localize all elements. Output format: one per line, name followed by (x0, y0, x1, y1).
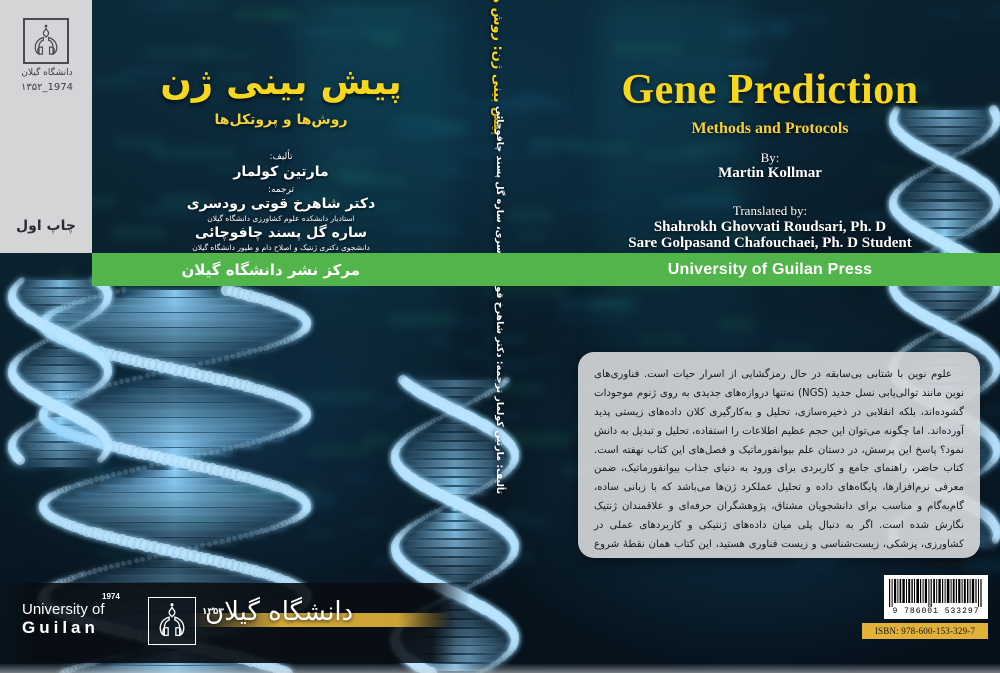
barcode: 9 786001 533297 (884, 575, 988, 619)
flap-years: ۱۳۵۲_1974 (10, 82, 84, 93)
translator-1-affiliation-fa: استادیار دانشکده علوم کشاورزی دانشگاه گی… (92, 214, 470, 223)
translator-1-name-en: Shahrokh Ghovvati Roudsari, Ph. D (540, 219, 1000, 236)
spine-panel: پیش بینی ژن: روش ها و پروتکل ها تألیف: م… (470, 0, 540, 673)
barcode-digits: 9 786001 533297 (888, 607, 984, 617)
back-cover-blurb-text: علوم نوین با شتابی بی‌سابقه در حال رمزگش… (594, 366, 964, 574)
university-of-guilan-seal-icon (23, 18, 69, 64)
university-name-en-line2: Guilan (22, 618, 142, 638)
back-cover-panel: پیش بینی ژن روش‌ها و پروتکل‌ها تألیف: ما… (92, 0, 470, 673)
by-label: By: (540, 150, 1000, 166)
author-name-en: Martin Kollmar (540, 165, 1000, 182)
book-title-en: Gene Prediction (540, 66, 1000, 114)
translator-2-name-fa: ساره گل پسند چافوچائی (92, 225, 470, 241)
isbn-text: ISBN: 978-600-153-329-7 (875, 626, 975, 636)
university-year-en: 1974 (102, 592, 120, 601)
publisher-band-spine (470, 253, 540, 286)
barcode-bars-icon (888, 579, 984, 607)
translator-label-fa: ترجمه: (92, 185, 470, 195)
book-subtitle-en: Methods and Protocols (540, 120, 1000, 138)
author-label-fa: تألیف: (92, 152, 470, 162)
translated-by-label: Translated by: (540, 203, 1000, 219)
university-name-en: University of Guilan (22, 601, 142, 638)
book-subtitle-fa: روش‌ها و پروتکل‌ها (92, 112, 470, 128)
publisher-name-en: University of Guilan Press (668, 261, 872, 279)
page-edge (0, 664, 1000, 673)
university-name-en-line1: University of (22, 601, 142, 618)
publisher-name-fa: مرکز نشر دانشگاه گیلان (181, 261, 470, 279)
publisher-band-front: University of Guilan Press (540, 253, 1000, 286)
book-title-fa: پیش بینی ژن (92, 60, 470, 103)
book-cover: دانشگاه گیلان ۱۳۵۲_1974 چاپ اول مرکز نشر… (0, 0, 1000, 673)
back-flap: دانشگاه گیلان ۱۳۵۲_1974 چاپ اول (0, 0, 92, 253)
isbn-band: ISBN: 978-600-153-329-7 (862, 623, 988, 639)
author-name-fa: مارتین کولمار (92, 164, 470, 180)
flap-university-name: دانشگاه گیلان (18, 68, 76, 78)
translator-1-name-fa: دکتر شاهرخ قوتی رودسری (92, 196, 470, 212)
edition-label: چاپ اول (0, 218, 92, 234)
university-branding-band: 1974 University of Guilan ۱۳۵۳ دانشگاه گ… (0, 583, 470, 663)
university-name-fa: دانشگاه گیلان (205, 597, 390, 627)
publisher-band-back: مرکز نشر دانشگاه گیلان (92, 253, 470, 286)
university-of-guilan-seal-icon (148, 597, 196, 645)
back-cover-blurb-panel: علوم نوین با شتابی بی‌سابقه در حال رمزگش… (578, 352, 980, 558)
spine-credits: تألیف: مارتین کولمار ترجمه: دکتر شاهرخ ق… (494, 106, 505, 494)
translator-2-affiliation-fa: دانشجوی دکتری ژنتیک و اصلاح دام و طیور د… (92, 243, 470, 252)
translator-2-name-en: Sare Golpasand Chafouchaei, Ph. D Studen… (540, 235, 1000, 252)
